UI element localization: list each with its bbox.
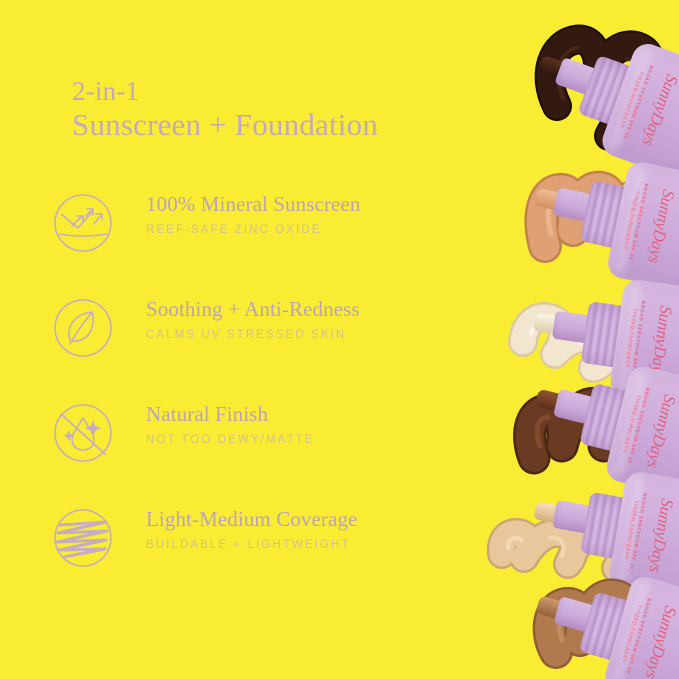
- feature-item: Natural Finish NOT TOO DEWY/MATTE: [52, 398, 482, 503]
- feature-subtitle: REEF-SAFE ZINC OXIDE: [146, 224, 360, 236]
- product-bottle-column: SunnyDays BROAD SPECTRUM SPF 30 TINTED S…: [449, 0, 679, 679]
- headline-line-2: Sunscreen + Foundation: [72, 108, 378, 143]
- feature-title: Soothing + Anti-Redness: [146, 297, 360, 322]
- product-marketing-image: 2-in-1 Sunscreen + Foundation 100% Miner…: [0, 0, 679, 679]
- feature-text: Natural Finish NOT TOO DEWY/MATTE: [146, 402, 315, 446]
- leaf-icon: [52, 297, 114, 359]
- feature-item: 100% Mineral Sunscreen REEF-SAFE ZINC OX…: [52, 188, 482, 293]
- feature-title: Natural Finish: [146, 402, 315, 427]
- headline-line-1: 2-in-1: [72, 76, 378, 106]
- feature-list: 100% Mineral Sunscreen REEF-SAFE ZINC OX…: [52, 188, 482, 608]
- page-title: 2-in-1 Sunscreen + Foundation: [72, 76, 378, 143]
- feature-text: 100% Mineral Sunscreen REEF-SAFE ZINC OX…: [146, 192, 360, 236]
- feature-item: Soothing + Anti-Redness CALMS UV STRESSE…: [52, 293, 482, 398]
- feature-text: Soothing + Anti-Redness CALMS UV STRESSE…: [146, 297, 360, 341]
- feature-subtitle: BUILDABLE + LIGHTWEIGHT: [146, 539, 357, 551]
- no-dewy-droplet-icon: [52, 402, 114, 464]
- label-description: BROAD SPECTRUM SPF 30 TINTED SUNSCREEN: [619, 181, 649, 260]
- feature-text: Light-Medium Coverage BUILDABLE + LIGHTW…: [146, 507, 357, 551]
- sun-deflect-icon: [52, 192, 114, 254]
- feature-subtitle: CALMS UV STRESSED SKIN: [146, 329, 360, 341]
- brand-name: SunnyDays: [644, 188, 679, 265]
- feature-item: Light-Medium Coverage BUILDABLE + LIGHTW…: [52, 503, 482, 608]
- coverage-swatch-icon: [52, 507, 114, 569]
- feature-title: 100% Mineral Sunscreen: [146, 192, 360, 217]
- feature-subtitle: NOT TOO DEWY/MATTE: [146, 434, 315, 446]
- feature-title: Light-Medium Coverage: [146, 507, 357, 532]
